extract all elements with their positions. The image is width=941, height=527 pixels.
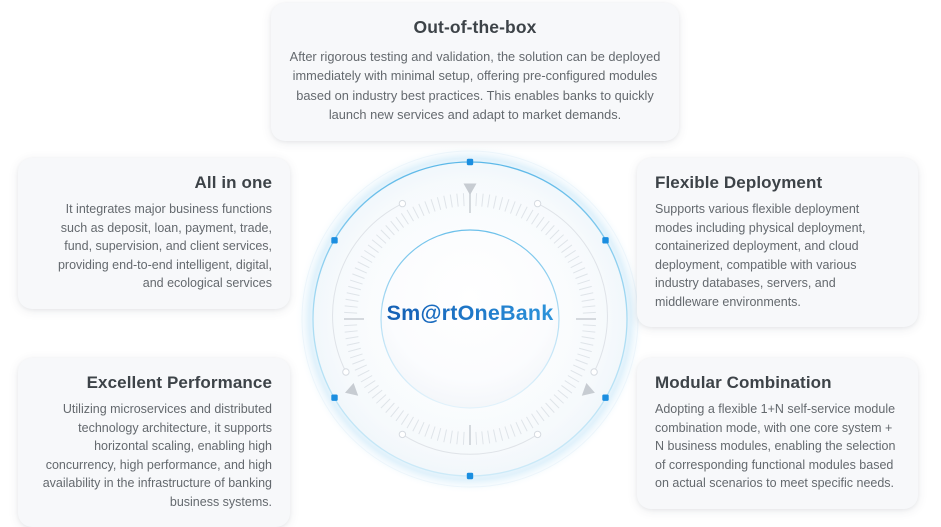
card-title-out-of-the-box: Out-of-the-box	[289, 17, 661, 39]
tick-mark	[583, 312, 596, 313]
card-title-modular-combination: Modular Combination	[655, 372, 900, 393]
feature-card-excellent-performance[interactable]: Excellent Performance Utilizing microser…	[18, 358, 290, 527]
arc-endpoint-2	[534, 200, 540, 206]
inner-disc-fill	[381, 230, 559, 408]
tick-mark	[583, 325, 596, 326]
ring-dot-2	[602, 395, 608, 401]
card-body-modular-combination: Adopting a flexible 1+N self-service mod…	[655, 400, 900, 493]
card-body-all-in-one: It integrates major business functions s…	[36, 200, 272, 293]
tick-mark	[344, 325, 357, 326]
arc-endpoint-5	[534, 431, 540, 437]
infographic-stage: Sm@rtOneBank Out-of-the-box After rigoro…	[0, 0, 941, 500]
feature-card-all-in-one[interactable]: All in one It integrates major business …	[18, 158, 290, 309]
card-body-flexible-deployment: Supports various flexible deployment mod…	[655, 200, 900, 311]
arc-endpoint-0	[343, 369, 349, 375]
card-title-excellent-performance: Excellent Performance	[36, 372, 272, 393]
ring-dot-0	[467, 159, 473, 165]
ring-dot-1	[602, 237, 608, 243]
tick-mark	[476, 193, 477, 206]
tick-mark	[344, 312, 357, 313]
arc-endpoint-1	[399, 200, 405, 206]
ring-dot-4	[331, 395, 337, 401]
arc-endpoint-3	[591, 369, 597, 375]
card-title-all-in-one: All in one	[36, 172, 272, 193]
hero-svg	[290, 139, 650, 499]
feature-card-modular-combination[interactable]: Modular Combination Adopting a flexible …	[637, 358, 918, 509]
tick-mark	[476, 432, 477, 445]
card-title-flexible-deployment: Flexible Deployment	[655, 172, 900, 193]
ring-dot-5	[331, 237, 337, 243]
card-body-out-of-the-box: After rigorous testing and validation, t…	[289, 47, 661, 125]
tick-mark	[463, 193, 464, 206]
ring-dot-3	[467, 473, 473, 479]
arc-endpoint-4	[399, 431, 405, 437]
tick-mark	[463, 432, 464, 445]
central-circle-graphic: Sm@rtOneBank	[290, 139, 650, 499]
feature-card-out-of-the-box[interactable]: Out-of-the-box After rigorous testing an…	[271, 3, 679, 141]
card-body-excellent-performance: Utilizing microservices and distributed …	[36, 400, 272, 511]
feature-card-flexible-deployment[interactable]: Flexible Deployment Supports various fle…	[637, 158, 918, 327]
